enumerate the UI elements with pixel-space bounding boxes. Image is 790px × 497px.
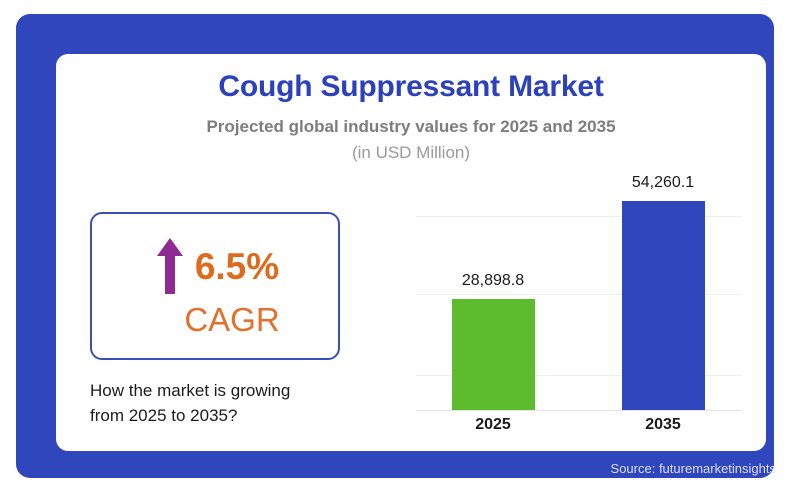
bar-group-2025[interactable]: 28,898.8 [443, 299, 543, 410]
chart-subtitle: Projected global industry values for 202… [56, 117, 766, 137]
bar-2025[interactable] [452, 299, 535, 410]
chart-units-label: (in USD Million) [56, 143, 766, 163]
x-tick-label-2035: 2035 [613, 416, 713, 434]
plot-area: 28,898.8 54,260.1 2025 2035 [416, 174, 742, 411]
cagr-value: 6.5% [195, 248, 279, 285]
arrow-up-icon [155, 236, 185, 296]
cagr-callout-box: 6.5% CAGR [90, 212, 340, 360]
x-axis-baseline [416, 410, 742, 411]
bar-value-2035: 54,260.1 [613, 174, 713, 192]
bar-group-2035[interactable]: 54,260.1 [613, 201, 713, 410]
bar-2035[interactable] [622, 201, 705, 410]
cagr-value-row: 6.5% [92, 236, 342, 296]
chart-title: Cough Suppressant Market [56, 70, 766, 104]
blue-border-frame: Cough Suppressant Market Projected globa… [16, 14, 774, 478]
bar-value-2025: 28,898.8 [443, 272, 543, 290]
question-line-1: How the market is growing [90, 379, 380, 404]
chart-card: Cough Suppressant Market Projected globa… [56, 54, 766, 451]
source-attribution: Source: futuremarketinsights [32, 461, 776, 476]
x-tick-label-2025: 2025 [443, 416, 543, 434]
question-text: How the market is growing from 2025 to 2… [90, 379, 380, 428]
cagr-label: CAGR [92, 303, 342, 336]
page-background: Cough Suppressant Market Projected globa… [0, 0, 790, 497]
question-line-2: from 2025 to 2035? [90, 404, 380, 429]
